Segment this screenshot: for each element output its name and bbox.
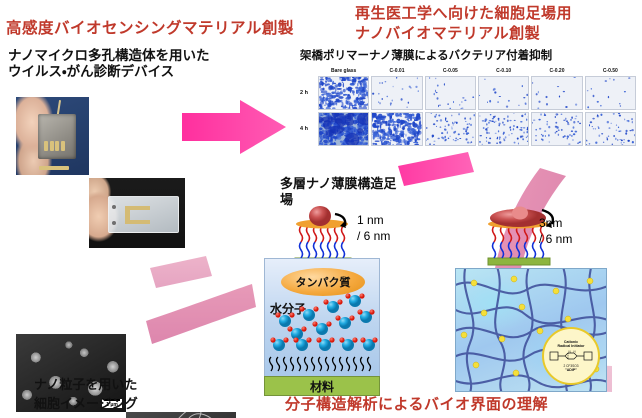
- antibacterial-title: 架橋ポリマーナノ薄膜によるバクテリア付着抑制: [300, 49, 552, 63]
- thin-film-thickness-label: 1 nm / 6 nm: [357, 213, 390, 244]
- polymer-network-panel: Cationic Radical Initiator N N 2 CF3SO3 …: [455, 268, 607, 392]
- thickness-value-2: / 6 nm: [539, 232, 572, 248]
- imaging-caption-line2: 細胞イメージング: [34, 396, 138, 412]
- grid-cell: [425, 76, 476, 110]
- polymer-brush-layer: [270, 357, 371, 371]
- gold-pad: [55, 141, 59, 151]
- svg-text:N: N: [574, 350, 576, 354]
- bacteria-adhesion-grid: Bare glass C-0.01 C-0.05 C-0.10 C-0.20 C…: [300, 68, 636, 146]
- connector-edge: [39, 166, 68, 170]
- bio-interface-panel: タンパク質 水分子: [264, 258, 380, 378]
- thickness-value-2: / 6 nm: [357, 229, 390, 245]
- grid-cell: [531, 112, 582, 146]
- grid-cell: [478, 112, 529, 146]
- imaging-caption-line1: ナノ粒子を用いた: [34, 377, 137, 393]
- microfluidic-chip-photo: [16, 97, 89, 175]
- grid-cell: [531, 76, 582, 110]
- chip-body: [38, 114, 76, 159]
- grid-row-header: 2 h: [300, 90, 318, 96]
- grid-col-header: C-0.50: [585, 68, 636, 74]
- grid-row-header: 4 h: [300, 126, 318, 132]
- right-section-title-line2: ナノバイオマテリアル創製: [355, 25, 540, 42]
- grid-cell: [371, 76, 422, 110]
- arrow-sem-to-imaging: [150, 256, 212, 288]
- cationic-radical-initiator-inset: Cationic Radical Initiator N N 2 CF3SO3 …: [542, 327, 600, 385]
- initiator-chemical-structure: N N: [548, 348, 594, 364]
- gold-pad: [61, 141, 65, 151]
- initiator-abbreviation: "ADIP": [565, 368, 577, 372]
- grid-cell: [371, 112, 422, 146]
- bottom-section-title: 分子構造解析によるバイオ界面の理解: [285, 396, 548, 413]
- gold-electrode: [125, 210, 130, 223]
- grid-cell: [318, 76, 369, 110]
- grid-cell: [585, 112, 636, 146]
- right-section-title-line1: 再生医工学へ向けた細胞足場用: [355, 5, 572, 22]
- thin-film-scaffold-model: [287, 196, 361, 266]
- research-overview-poster: 高感度バイオセンシングマテリアル創製 ナノマイクロ多孔構造体を用いた ウイルス・…: [0, 0, 642, 418]
- water-molecules: [270, 293, 377, 351]
- ribbon-left-to-center: [146, 284, 256, 344]
- gold-pad: [50, 141, 54, 151]
- grid-cell: [318, 112, 369, 146]
- svg-text:N: N: [569, 350, 571, 354]
- arrow-right-biosensing: [182, 100, 286, 154]
- thick-film-thickness-label: 3nm / 6 nm: [539, 216, 572, 247]
- material-label: 材料: [310, 378, 334, 395]
- nanofiber-mesh-sem: 1 μm: [126, 412, 236, 418]
- inlet-port: [112, 205, 116, 209]
- grid-cell: [585, 76, 636, 110]
- left-section-title: 高感度バイオセンシングマテリアル創製: [6, 20, 294, 38]
- grid-col-header: C-0.01: [371, 68, 422, 74]
- grid-col-header: Bare glass: [318, 68, 369, 74]
- glass-slide: [108, 196, 179, 233]
- thickness-value-1: 1 nm: [357, 213, 390, 229]
- grid-col-header: C-0.05: [425, 68, 476, 74]
- grid-col-header: C-0.10: [478, 68, 529, 74]
- thickness-value-1: 3nm: [539, 216, 572, 232]
- grid-cell: [425, 112, 476, 146]
- grid-cell: [478, 76, 529, 110]
- arrow-grid-to-scaffold: [398, 152, 474, 186]
- material-substrate-bar: 材料: [264, 376, 380, 396]
- gold-pad: [44, 141, 48, 151]
- biosensing-subtitle: ナノマイクロ多孔構造体を用いた ウイルス・がん診断デバイス: [8, 48, 210, 81]
- grid-col-header: C-0.20: [531, 68, 582, 74]
- glass-electrode-device-photo: [89, 178, 185, 248]
